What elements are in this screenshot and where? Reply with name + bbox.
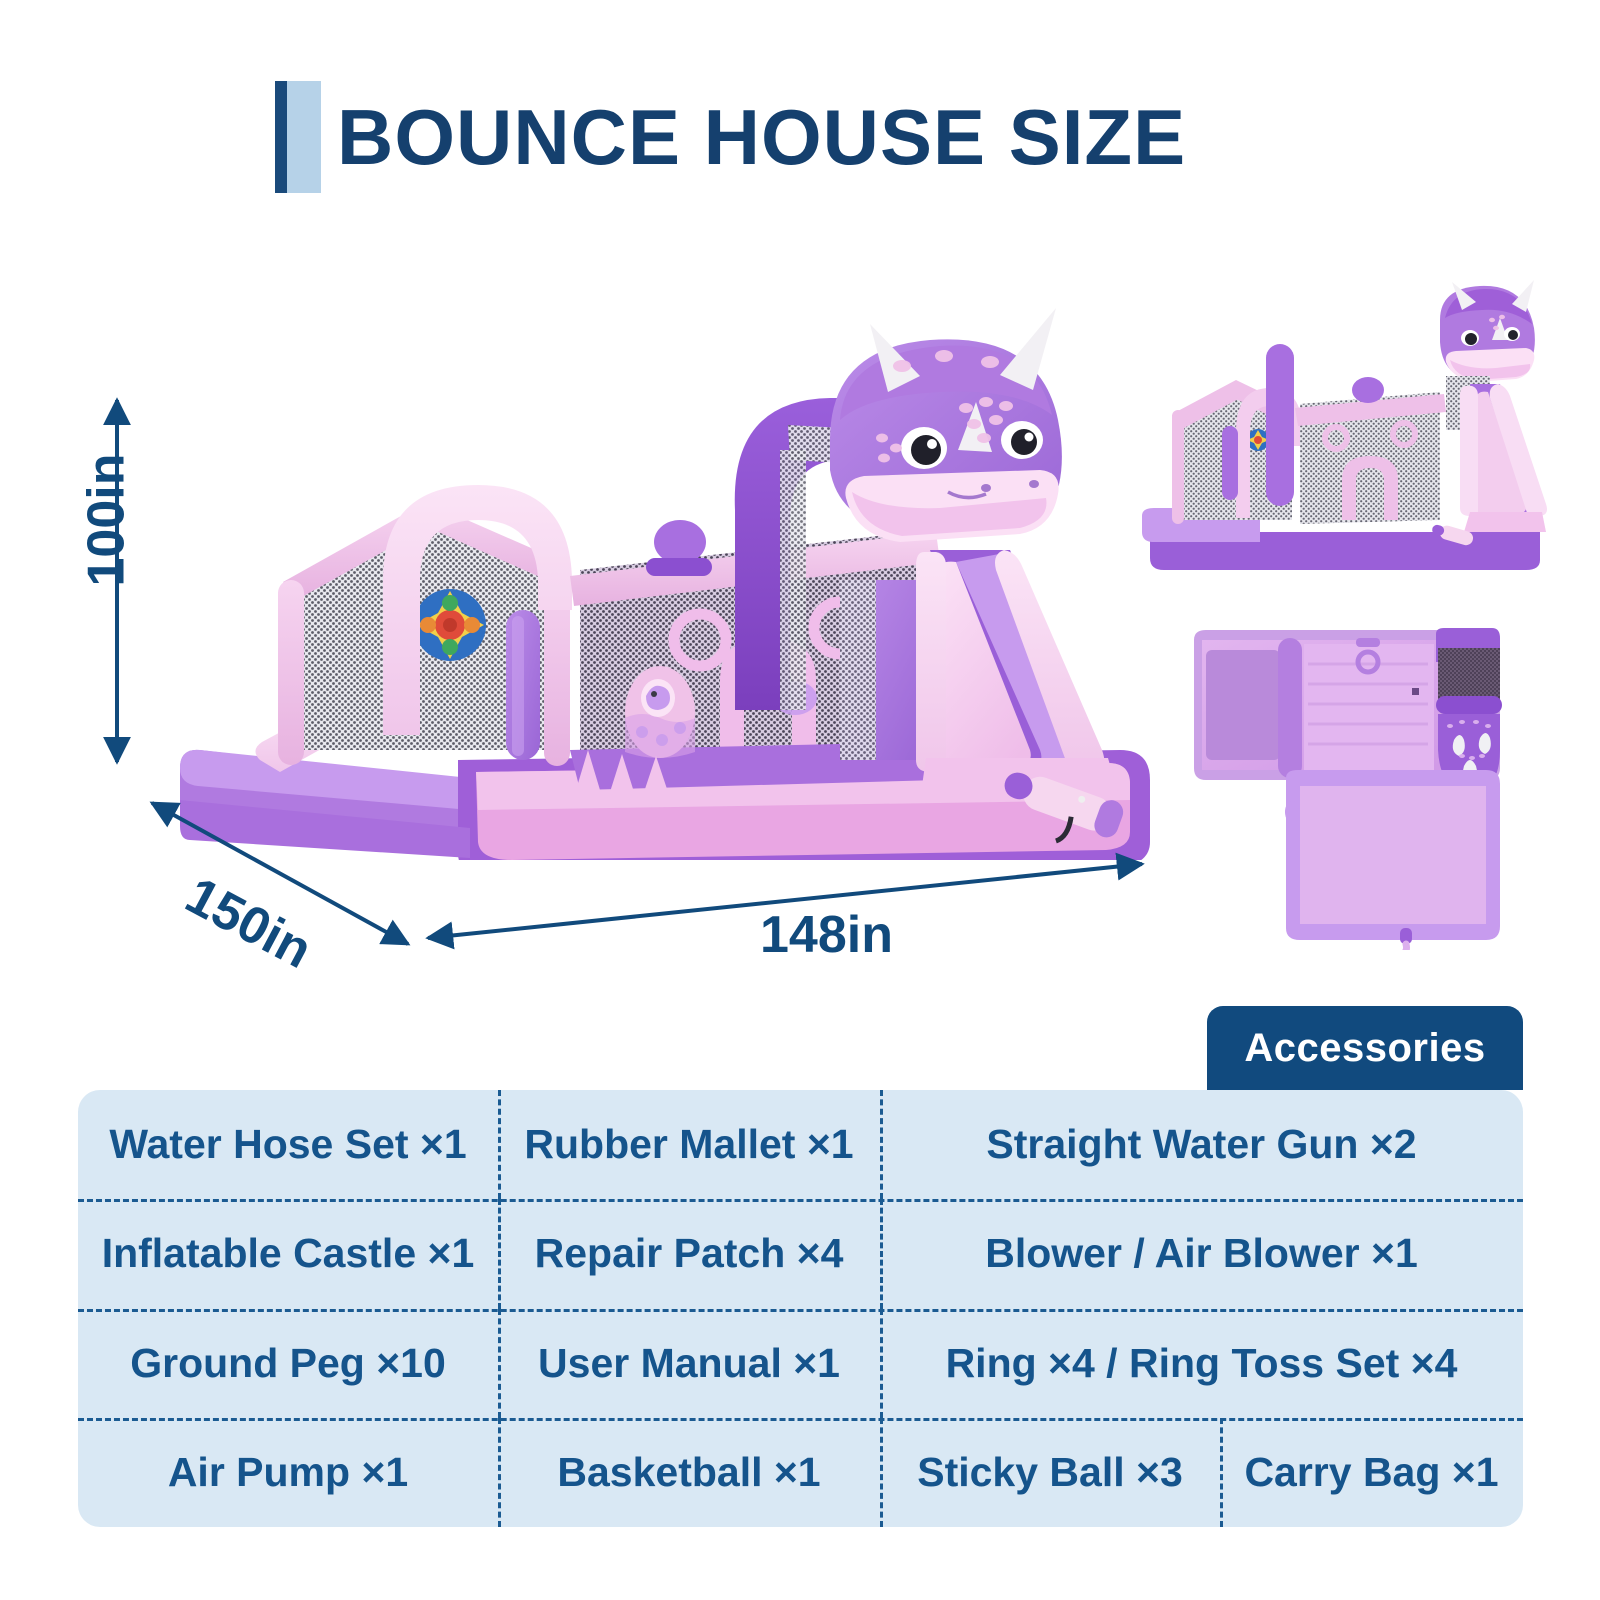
accessory-item: Air Pump ×1 xyxy=(78,1418,498,1527)
table-row: Ground Peg ×10 User Manual ×1 Ring ×4 / … xyxy=(78,1309,1523,1418)
table-row: Air Pump ×1 Basketball ×1 Sticky Ball ×3… xyxy=(78,1418,1523,1527)
bounce-house-side-view xyxy=(1140,280,1550,580)
title-accent-bar-light xyxy=(287,81,321,193)
dimension-height-label: 100in xyxy=(76,454,136,587)
accessories-badge-label: Accessories xyxy=(1244,1026,1485,1071)
table-row: Water Hose Set ×1 Rubber Mallet ×1 Strai… xyxy=(78,1090,1523,1199)
accessory-item: Inflatable Castle ×1 xyxy=(78,1199,498,1308)
accessory-item: User Manual ×1 xyxy=(498,1309,880,1418)
accessory-item: Rubber Mallet ×1 xyxy=(498,1090,880,1199)
accessory-item: Basketball ×1 xyxy=(498,1418,880,1527)
accessory-item: Ring ×4 / Ring Toss Set ×4 xyxy=(880,1309,1523,1418)
table-row: Inflatable Castle ×1 Repair Patch ×4 Blo… xyxy=(78,1199,1523,1308)
accessory-item: Ground Peg ×10 xyxy=(78,1309,498,1418)
dimension-width-label: 148in xyxy=(760,905,893,965)
accessory-item: Blower / Air Blower ×1 xyxy=(880,1199,1523,1308)
accessory-item: Sticky Ball ×3 xyxy=(880,1418,1220,1527)
bounce-house-main-view xyxy=(140,280,1150,860)
accessory-item: Repair Patch ×4 xyxy=(498,1199,880,1308)
accessories-badge: Accessories xyxy=(1207,1006,1523,1090)
accessory-item: Carry Bag ×1 xyxy=(1220,1418,1523,1527)
page-title: BOUNCE HOUSE SIZE xyxy=(275,82,1186,192)
title-accent-bar xyxy=(275,81,321,193)
accessory-item: Straight Water Gun ×2 xyxy=(880,1090,1523,1199)
dimension-depth-label: 150in xyxy=(176,866,322,981)
accessories-table: Water Hose Set ×1 Rubber Mallet ×1 Strai… xyxy=(78,1090,1523,1527)
bounce-house-top-view xyxy=(1150,600,1550,950)
page-title-text: BOUNCE HOUSE SIZE xyxy=(337,87,1186,187)
title-accent-bar-dark xyxy=(275,81,287,193)
infographic-page: BOUNCE HOUSE SIZE xyxy=(0,0,1600,1600)
accessory-item: Water Hose Set ×1 xyxy=(78,1090,498,1199)
